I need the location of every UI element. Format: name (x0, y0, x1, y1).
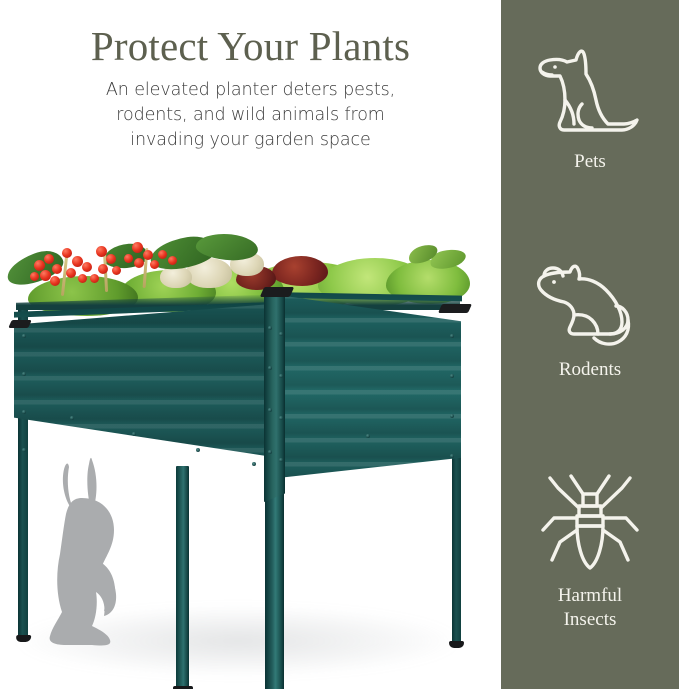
planter-box (0, 186, 501, 689)
planter-rivet (22, 448, 26, 452)
planter-corner-cap-left (8, 320, 32, 328)
dog-icon (534, 44, 646, 140)
planter-corner-cap-center (260, 287, 294, 297)
berry (82, 262, 92, 272)
red-lettuce (272, 256, 328, 286)
planter-rivet (268, 408, 272, 412)
berry (96, 246, 107, 257)
berry (66, 268, 76, 278)
planter-rivet (279, 416, 283, 420)
berry (52, 264, 62, 274)
berry (132, 242, 143, 253)
planter-panel-long-side (14, 304, 272, 500)
feature-label-insects: Harmful Insects (501, 584, 679, 632)
berry (134, 258, 144, 268)
feature-label-rodents: Rodents (501, 358, 679, 382)
berry (78, 274, 87, 283)
feature-label-insects-line2: Insects (564, 609, 617, 630)
berry (90, 274, 99, 283)
features-sidebar: Pets Rodents (501, 0, 679, 689)
planter-rivet (22, 372, 26, 376)
planter-rivet (450, 334, 454, 338)
berry (30, 272, 39, 281)
berry (124, 254, 133, 263)
feature-label-insects-line1: Harmful (558, 585, 622, 606)
subtitle-line-2: rodents, and wild animals from (51, 103, 451, 128)
berry (106, 254, 116, 264)
planter-rivet (279, 332, 283, 336)
planter-rivet (196, 448, 200, 452)
feature-label-pets: Pets (501, 150, 679, 174)
feature-pets: Pets (501, 44, 679, 174)
feature-insects: Harmful Insects (501, 472, 679, 632)
planter-rivet (279, 458, 283, 462)
page-title: Protect Your Plants (0, 22, 501, 70)
berry (112, 266, 121, 275)
planter-rivet (450, 414, 454, 418)
rodent-icon (530, 262, 650, 348)
berry (50, 276, 60, 286)
berry (98, 264, 108, 274)
berry (44, 254, 54, 264)
berry (150, 260, 159, 269)
berry (62, 248, 72, 258)
planter-rivet (268, 450, 272, 454)
planter-rivet (132, 432, 136, 436)
product-photo (0, 186, 501, 689)
planter-rivet (22, 410, 26, 414)
berry (143, 250, 153, 260)
headline-block: Protect Your Plants An elevated planter … (0, 22, 501, 153)
subtitle-line-1: An elevated planter deters pests, (51, 78, 451, 103)
subtitle-line-3: invading your garden space (51, 128, 451, 153)
berry (158, 250, 167, 259)
insect-icon (538, 472, 642, 574)
planter-rivet (268, 326, 272, 330)
page-subtitle: An elevated planter deters pests, rodent… (51, 78, 451, 153)
feature-rodents: Rodents (501, 262, 679, 382)
planter-corner-post (264, 290, 285, 502)
planter-rivet (22, 334, 26, 338)
infographic-page: Protect Your Plants An elevated planter … (0, 0, 679, 689)
planter-rivet (268, 366, 272, 370)
cauliflower-head (160, 266, 192, 288)
berry (168, 256, 177, 265)
planter-rivet (279, 374, 283, 378)
planter-rivet (450, 454, 454, 458)
planter-rivet (366, 434, 370, 438)
main-content-panel: Protect Your Plants An elevated planter … (0, 0, 501, 689)
planter-rivet (70, 416, 74, 420)
planter-corner-cap-right (438, 304, 472, 313)
planter-panel-end-side (271, 294, 461, 504)
planter-rivet (252, 462, 256, 466)
planter-rivet (450, 374, 454, 378)
